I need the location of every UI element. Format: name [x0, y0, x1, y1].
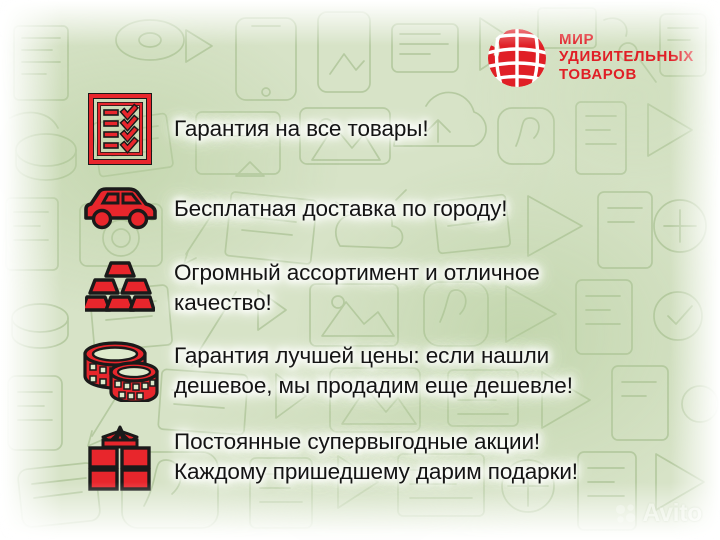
avito-label: Avito	[642, 501, 702, 526]
brand-line-2: Удивительных	[559, 48, 694, 66]
feature-line: качество!	[174, 288, 540, 318]
feature-line: дешевое, мы продадим еще дешевле!	[174, 371, 573, 401]
gift-icon	[85, 423, 155, 491]
brand-logo: Мир Удивительных Товаров	[484, 24, 694, 90]
feature-text-delivery: Бесплатная доставка по городу!	[168, 192, 513, 226]
feature-text-promotions: Постоянные супервыгодные акции! Каждому …	[168, 425, 584, 489]
brand-line-3: Товаров	[559, 66, 694, 84]
feature-line: Гарантия на все товары!	[174, 114, 429, 144]
avito-watermark: Avito	[615, 501, 702, 526]
feature-icon-slot	[72, 423, 168, 491]
promo-banner: Мир Удивительных Товаров	[0, 0, 720, 540]
checklist-icon	[88, 93, 152, 165]
feature-item-delivery: Бесплатная доставка по городу!	[72, 171, 662, 247]
feature-item-best-price: Гарантия лучшей цены: если нашли дешевое…	[72, 329, 662, 413]
feature-line: Гарантия лучшей цены: если нашли	[174, 341, 573, 371]
feature-line: Огромный ассортимент и отличное	[174, 258, 540, 288]
feature-icon-slot	[72, 340, 168, 402]
car-icon	[80, 185, 160, 233]
feature-text-guarantee: Гарантия на все товары!	[168, 112, 435, 146]
feature-item-promotions: Постоянные супервыгодные акции! Каждому …	[72, 414, 662, 500]
feature-item-guarantee: Гарантия на все товары!	[72, 88, 662, 170]
feature-text-assortment: Огромный ассортимент и отличное качество…	[168, 256, 546, 320]
feature-line: Постоянные супервыгодные акции!	[174, 427, 578, 457]
feature-icon-slot	[72, 185, 168, 233]
feature-line: Бесплатная доставка по городу!	[174, 194, 507, 224]
brand-line-1: Мир	[559, 31, 694, 49]
feature-line: Каждому пришедшему дарим подарки!	[174, 457, 578, 487]
feature-list: Гарантия на все товары! Бесплатная доста…	[72, 88, 662, 501]
feature-icon-slot	[72, 258, 168, 318]
gold-bars-icon	[85, 258, 155, 318]
avito-dots-icon	[615, 503, 637, 525]
brand-wordmark: Мир Удивительных Товаров	[559, 31, 694, 84]
feature-text-best-price: Гарантия лучшей цены: если нашли дешевое…	[168, 339, 579, 403]
coins-icon	[81, 340, 159, 402]
feature-item-assortment: Огромный ассортимент и отличное качество…	[72, 248, 662, 328]
globe-grid-icon	[484, 24, 550, 90]
feature-icon-slot	[72, 93, 168, 165]
